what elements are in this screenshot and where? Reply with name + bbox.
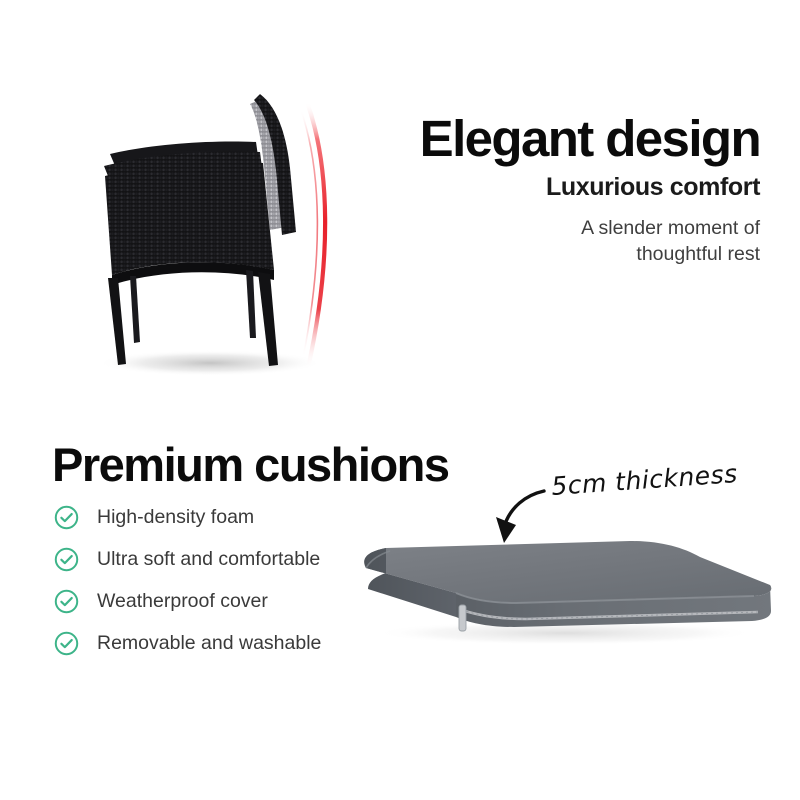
check-circle-icon [54,631,79,656]
feature-list: High-density foam Ultra soft and comfort… [54,496,321,664]
annotation-text: 5cm thickness [550,465,738,501]
list-item: High-density foam [54,496,321,538]
top-text-block: Elegant design Luxurious comfort A slend… [340,112,760,267]
list-item: Ultra soft and comfortable [54,538,321,580]
tagline-line-1: A slender moment of [581,217,760,239]
chair-front-leg-far [130,276,140,343]
list-item: Weatherproof cover [54,580,321,622]
annotation-arrow-icon [504,491,544,527]
chair-rear-leg-far [246,270,256,338]
product-feature-graphic: Elegant design Luxurious comfort A slend… [0,0,800,800]
check-circle-icon [54,547,79,572]
chair-shadow [98,350,322,376]
headline: Elegant design [340,112,760,165]
check-circle-icon [54,589,79,614]
tagline-line-2: thoughtful rest [636,243,760,265]
zipper-pull-icon [459,605,466,631]
rattan-armchair-image [60,80,380,400]
feature-label: Removable and washable [97,632,321,655]
chair-side-panel [105,162,274,275]
feature-label: Weatherproof cover [97,590,268,613]
cushion-image: 5cm thickness [330,465,790,655]
chair-front-leg [108,278,126,365]
list-item: Removable and washable [54,622,321,664]
check-circle-icon [54,505,79,530]
feature-label: High-density foam [97,506,254,529]
feature-label: Ultra soft and comfortable [97,548,320,571]
tagline: A slender moment of thoughtful rest [340,216,760,267]
subheadline: Luxurious comfort [340,173,760,202]
